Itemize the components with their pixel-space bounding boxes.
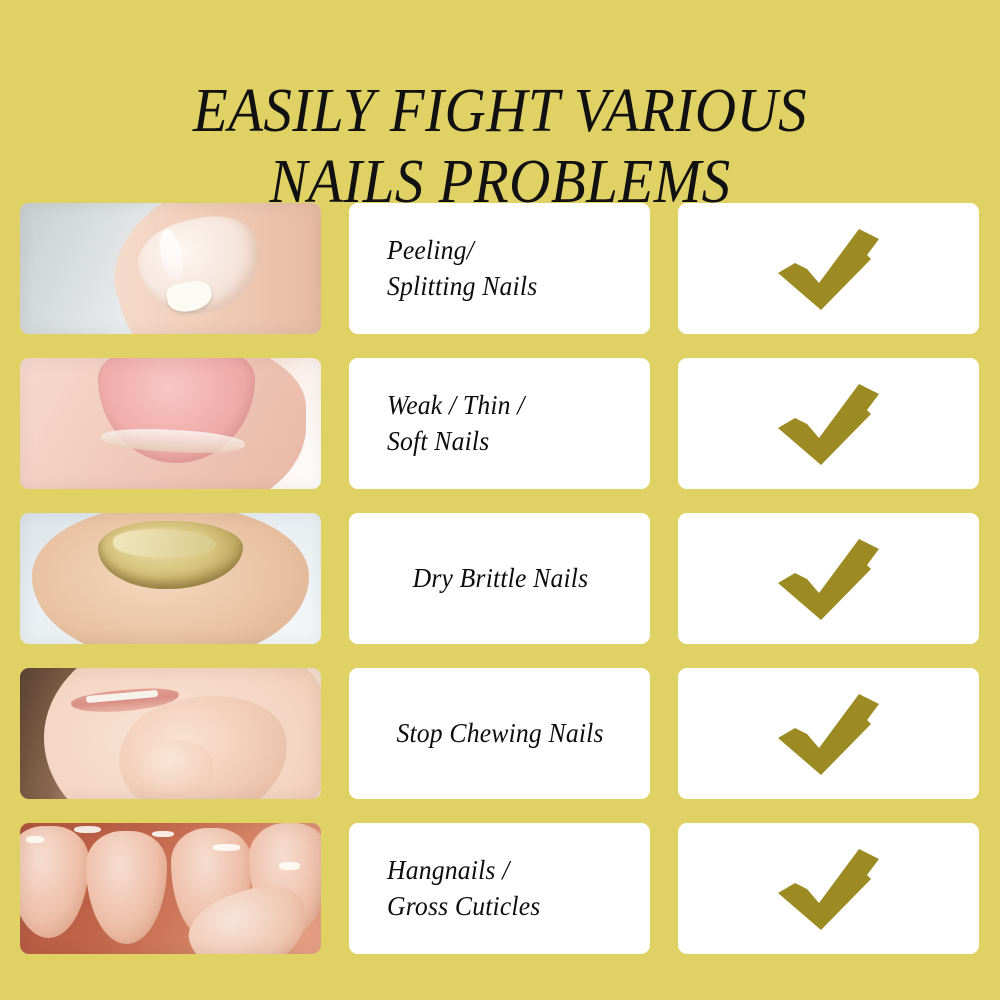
problem-image-weak-thin-soft-nails bbox=[20, 358, 321, 489]
problem-label: Weak / Thin / Soft Nails bbox=[387, 388, 525, 458]
problem-label-cell: Stop Chewing Nails bbox=[349, 668, 650, 799]
table-row: Peeling/ Splitting Nails bbox=[20, 203, 980, 334]
problem-check-cell bbox=[678, 668, 979, 799]
problem-label-cell: Peeling/ Splitting Nails bbox=[349, 203, 650, 334]
table-row: Dry Brittle Nails bbox=[20, 513, 980, 644]
check-icon bbox=[775, 380, 883, 468]
problem-label: Dry Brittle Nails bbox=[413, 561, 589, 596]
photo-hangnails-gross-cuticles bbox=[20, 823, 321, 954]
problem-image-peeling-splitting-nails bbox=[20, 203, 321, 334]
problem-rows: Peeling/ Splitting Nails Weak / Thin / S… bbox=[20, 203, 980, 954]
problem-label-cell: Weak / Thin / Soft Nails bbox=[349, 358, 650, 489]
photo-peeling-splitting-nails bbox=[20, 203, 321, 334]
check-icon bbox=[775, 845, 883, 933]
check-icon bbox=[775, 690, 883, 778]
photo-weak-thin-soft-nails bbox=[20, 358, 321, 489]
problem-label-cell: Hangnails / Gross Cuticles bbox=[349, 823, 650, 954]
problem-image-hangnails-gross-cuticles bbox=[20, 823, 321, 954]
table-row: Weak / Thin / Soft Nails bbox=[20, 358, 980, 489]
page-title-line-1: EASILY FIGHT VARIOUS bbox=[40, 76, 960, 148]
problem-image-dry-brittle-nails bbox=[20, 513, 321, 644]
check-icon bbox=[775, 225, 883, 313]
table-row: Stop Chewing Nails bbox=[20, 668, 980, 799]
photo-dry-brittle-nails bbox=[20, 513, 321, 644]
nail-problems-poster: EASILY FIGHT VARIOUS NAILS PROBLEMS Peel… bbox=[0, 0, 1000, 1000]
problem-check-cell bbox=[678, 513, 979, 644]
problem-label-cell: Dry Brittle Nails bbox=[349, 513, 650, 644]
problem-label: Peeling/ Splitting Nails bbox=[387, 233, 537, 303]
photo-stop-chewing-nails bbox=[20, 668, 321, 799]
problem-check-cell bbox=[678, 358, 979, 489]
problem-image-stop-chewing-nails bbox=[20, 668, 321, 799]
table-row: Hangnails / Gross Cuticles bbox=[20, 823, 980, 954]
problem-check-cell bbox=[678, 203, 979, 334]
page-title: EASILY FIGHT VARIOUS NAILS PROBLEMS bbox=[40, 76, 960, 220]
problem-label: Stop Chewing Nails bbox=[397, 716, 604, 751]
problem-label: Hangnails / Gross Cuticles bbox=[387, 853, 540, 923]
problem-check-cell bbox=[678, 823, 979, 954]
check-icon bbox=[775, 535, 883, 623]
